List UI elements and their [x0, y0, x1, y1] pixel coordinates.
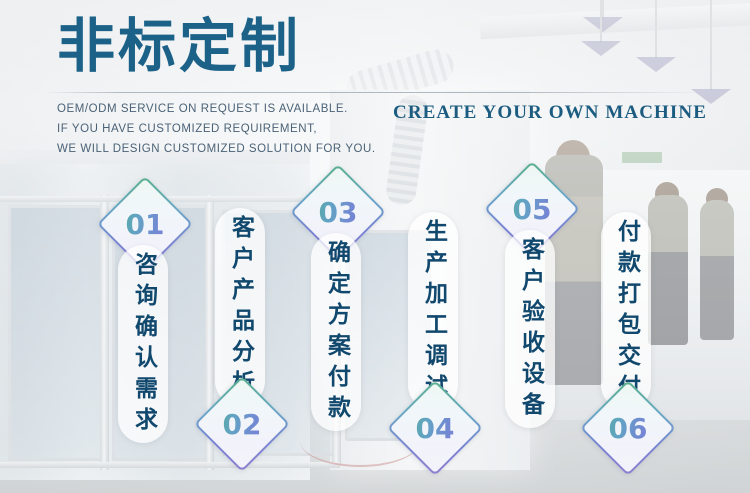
step-06-label: 付款打包交付 — [615, 217, 638, 405]
step-06-number: 06 — [596, 396, 660, 460]
step-06-badge: 06 — [580, 380, 676, 476]
step-03-label: 确定方案付款 — [325, 238, 348, 426]
step-05-pill: 客户验收设备 — [505, 230, 555, 428]
step-04-label: 生产加工调试 — [422, 217, 445, 405]
step-01-pill: 咨询确认需求 — [118, 245, 168, 443]
step-04-pill: 生产加工调试 — [408, 212, 458, 410]
process-steps: 01 咨询确认需求 客户产品分析 02 03 确定方案付款 生产加工调 — [0, 0, 750, 493]
step-02-number: 02 — [210, 392, 274, 456]
step-02-badge: 02 — [194, 376, 290, 472]
custom-machine-banner: 非标定制 OEM/ODM SERVICE ON REQUEST IS AVAIL… — [0, 0, 750, 493]
step-06-pill: 付款打包交付 — [601, 212, 651, 410]
step-04-number: 04 — [403, 396, 467, 460]
step-04-badge: 04 — [387, 380, 483, 476]
step-02-pill: 客户产品分析 — [215, 208, 265, 406]
step-02-label: 客户产品分析 — [229, 213, 252, 401]
step-05-label: 客户验收设备 — [519, 235, 542, 423]
step-01-label: 咨询确认需求 — [132, 250, 155, 438]
step-03-pill: 确定方案付款 — [311, 233, 361, 431]
